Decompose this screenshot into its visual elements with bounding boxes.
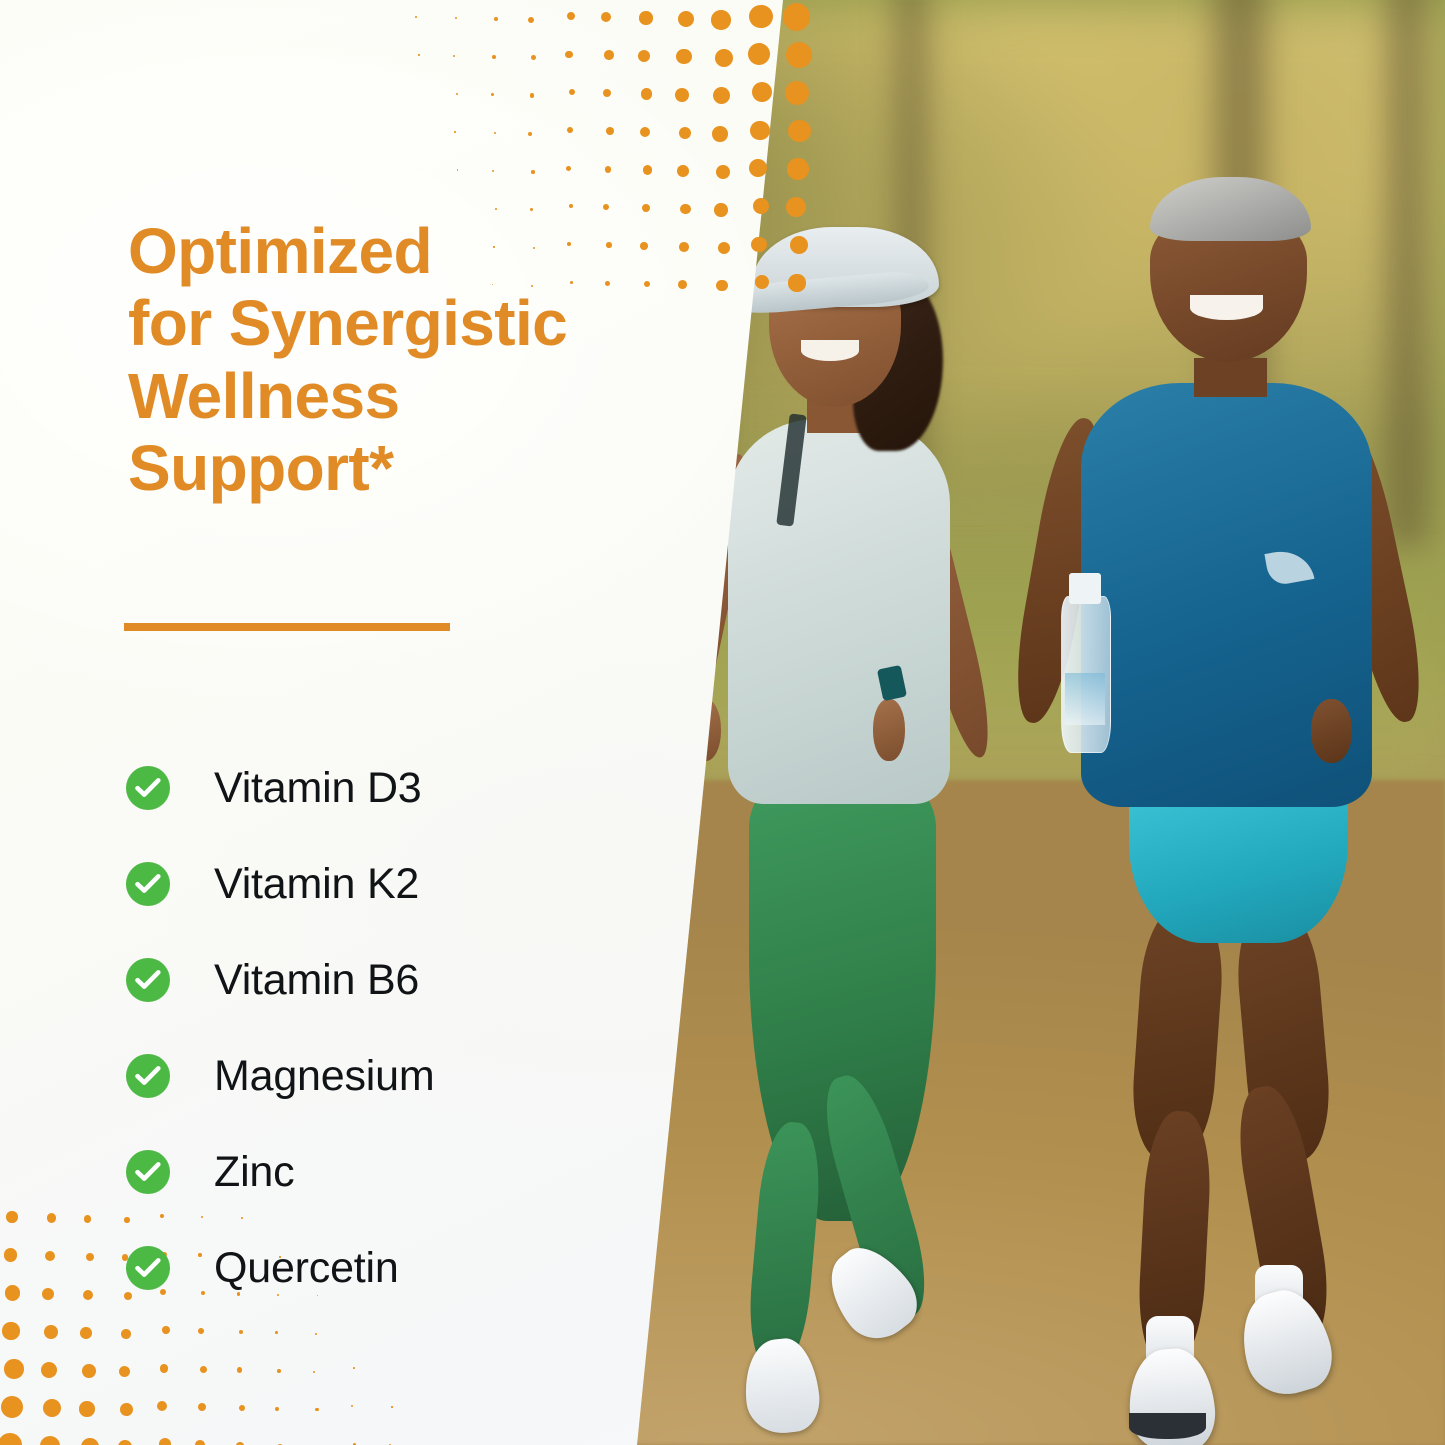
check-icon [126,958,170,1002]
list-item: Quercetin [126,1220,646,1316]
ingredient-checklist: Vitamin D3Vitamin K2Vitamin B6MagnesiumZ… [126,740,646,1316]
man-neck [1194,358,1267,397]
water-bottle-label [1065,673,1105,724]
man-hair [1150,177,1312,241]
list-item: Vitamin B6 [126,932,646,1028]
page-title: Optimized for Synergistic Wellness Suppo… [128,215,728,504]
list-item: Zinc [126,1124,646,1220]
man-fist [1311,699,1351,763]
woman-shoe [740,1336,822,1438]
man-runner [1040,159,1445,1445]
list-item: Vitamin D3 [126,740,646,836]
list-item-label: Zinc [214,1148,294,1197]
list-item-label: Vitamin D3 [214,764,422,813]
list-item-label: Quercetin [214,1244,399,1293]
woman-shin [745,1120,825,1373]
man-shoe-sole [1129,1413,1206,1439]
list-item: Magnesium [126,1028,646,1124]
promo-banner: Optimized for Synergistic Wellness Suppo… [0,0,1445,1445]
headline-line: Support* [128,432,728,504]
list-item: Vitamin K2 [126,836,646,932]
check-icon [126,1246,170,1290]
water-bottle-cap [1069,573,1101,604]
check-icon [126,862,170,906]
list-item-label: Vitamin B6 [214,956,419,1005]
check-icon [126,766,170,810]
man-smile [1190,295,1263,319]
list-item-label: Magnesium [214,1052,434,1101]
divider [124,623,450,631]
woman-tank-top [728,419,950,804]
headline-line: for Synergistic [128,287,728,359]
list-item-label: Vitamin K2 [214,860,419,909]
check-icon [126,1054,170,1098]
woman-fist [873,699,904,761]
check-icon [126,1150,170,1194]
headline-line: Optimized [128,215,728,287]
headline-line: Wellness [128,360,728,432]
